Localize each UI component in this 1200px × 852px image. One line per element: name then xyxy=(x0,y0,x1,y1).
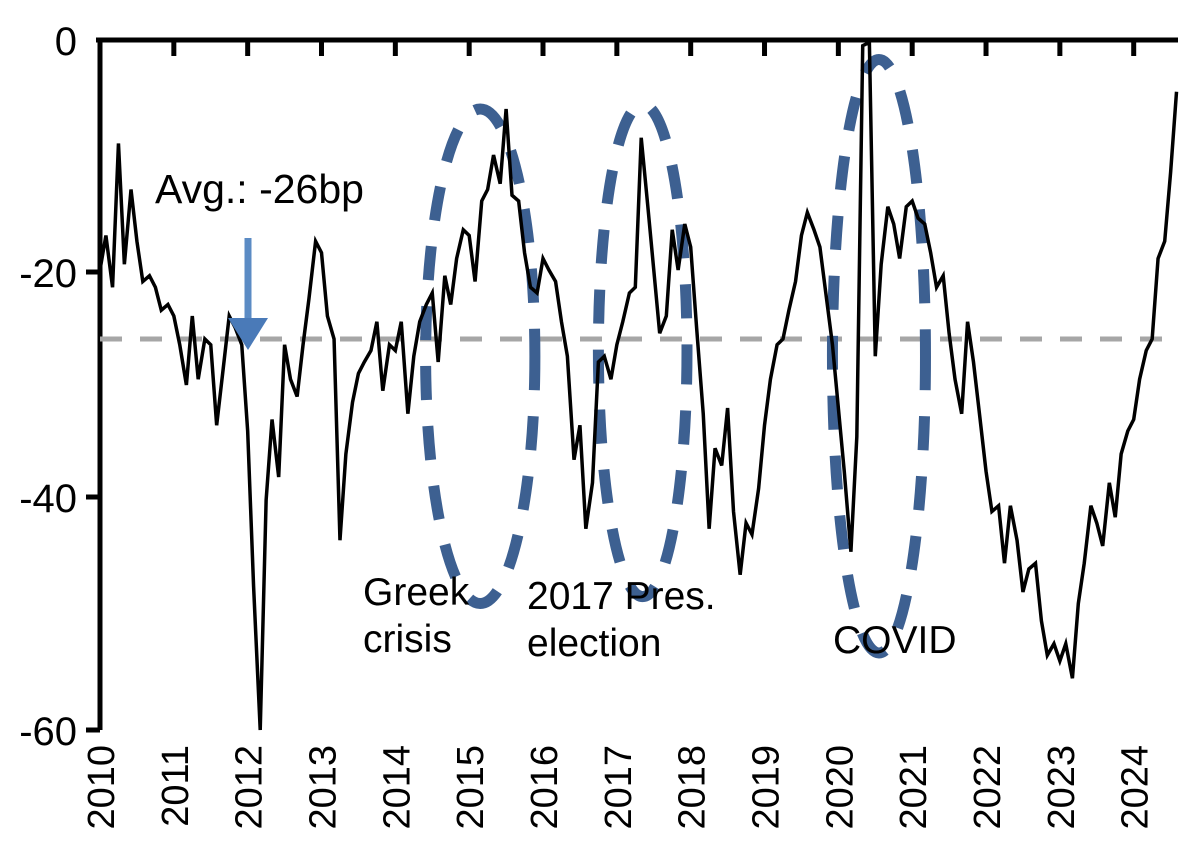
y-tick-label-minus60: -60 xyxy=(19,710,77,754)
x-tick-label-2018: 2018 xyxy=(672,745,714,830)
greek-crisis-label-line2: crisis xyxy=(363,618,452,661)
y-tick-label-0: 0 xyxy=(55,20,77,64)
x-tick-label-2023: 2023 xyxy=(1041,745,1083,830)
x-tick-label-2017: 2017 xyxy=(598,745,640,830)
x-axis-labels: 2010201120122013201420152016201720182019… xyxy=(81,745,1157,830)
x-tick-label-2022: 2022 xyxy=(967,745,1009,830)
x-tick-label-2013: 2013 xyxy=(303,745,345,830)
x-tick-label-2015: 2015 xyxy=(450,745,492,830)
average-annotation-label: Avg.: -26bp xyxy=(155,166,364,212)
x-tick-label-2021: 2021 xyxy=(893,745,935,830)
x-tick-label-2020: 2020 xyxy=(819,745,861,830)
greek-crisis-label-line1: Greek xyxy=(363,571,470,614)
x-tick-label-2019: 2019 xyxy=(746,745,788,830)
election-label-line2: election xyxy=(527,622,661,665)
x-tick-label-2012: 2012 xyxy=(229,745,271,830)
election-label-line1: 2017 Pres. xyxy=(527,575,716,618)
x-tick-label-2010: 2010 xyxy=(81,745,123,830)
line-chart: 0 -20 -40 -60 20102011201220132014201520… xyxy=(0,0,1200,852)
y-tick-label-minus40: -40 xyxy=(19,477,77,521)
x-tick-label-2024: 2024 xyxy=(1115,745,1157,830)
y-tick-label-minus20: -20 xyxy=(19,252,77,296)
covid-label: COVID xyxy=(833,619,957,662)
x-tick-label-2011: 2011 xyxy=(155,745,197,827)
x-tick-label-2014: 2014 xyxy=(376,745,418,830)
y-axis-labels: 0 -20 -40 -60 xyxy=(19,20,77,754)
chart-container: 0 -20 -40 -60 20102011201220132014201520… xyxy=(0,0,1200,852)
x-tick-label-2016: 2016 xyxy=(524,745,566,830)
